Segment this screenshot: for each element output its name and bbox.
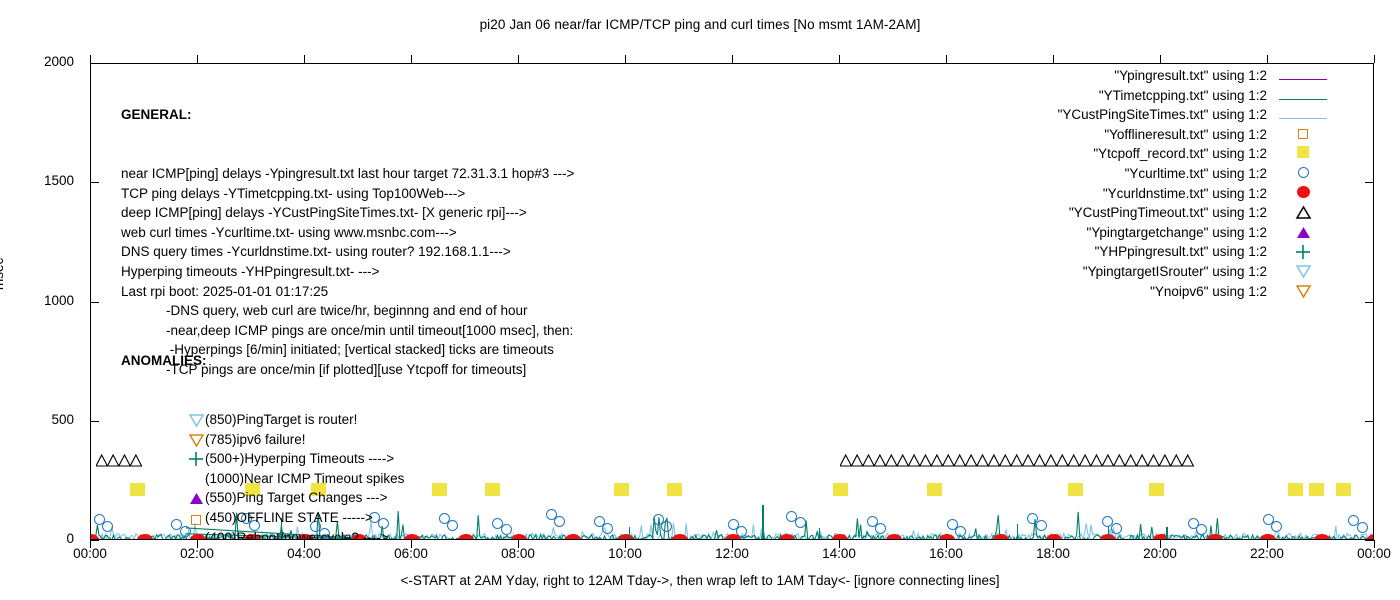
x-tick-mark-top [1160,55,1161,63]
anomaly-label: (850)PingTarget is router! [205,412,357,427]
triangle-up-open-icon [851,455,862,466]
legend-item[interactable]: "Ynoipv6" using 1:2 [1058,282,1331,302]
near-icmp-baseline [91,539,1374,540]
tcp-timeout-marker [1149,483,1164,496]
tcp-timeout-marker [1309,483,1324,496]
x-tick-mark-top [1267,55,1268,63]
curl-time-marker [1271,521,1282,532]
dns-time-marker [565,534,581,540]
circle-open-icon [1298,164,1309,184]
tcp-timeout-marker [667,483,682,496]
legend-item-key [1275,86,1331,106]
legend-item-key [1275,265,1331,278]
anomaly-label: (500+)Hyperping Timeouts ----> [205,451,394,466]
anomaly-row: (850)PingTarget is router! [121,410,404,430]
triangle-down-open-icon [189,434,204,447]
legend-line-icon [1279,86,1327,106]
curl-time-marker [501,524,512,535]
x-tick-mark-top [90,55,91,63]
anomaly-label: (1000)Near ICMP Timeout spikes [205,471,404,486]
legend-line-icon [1279,66,1327,86]
legend-item-label: "Ypingtargetchange" using 1:2 [1087,223,1267,243]
triangle-up-open-icon [1125,455,1136,466]
legend-item[interactable]: "Ypingresult.txt" using 1:2 [1058,66,1331,86]
triangle-up-open-icon [1296,206,1311,219]
triangle-up-open-icon [977,455,988,466]
general-note-line: DNS query times -Ycurldnstime.txt- using… [121,242,574,262]
x-tick-label: 10:00 [608,546,642,561]
tcp-timeout-marker [833,483,848,496]
legend-item-label: "YTimetcpping.txt" using 1:2 [1099,86,1267,106]
legend-item-key [1275,105,1331,125]
hyperping-tick [1017,524,1018,540]
curl-time-marker [955,526,966,537]
legend-item-label: "YCustPingTimeout.txt" using 1:2 [1069,203,1267,223]
x-tick-label: 14:00 [822,546,856,561]
curl-time-marker [447,520,458,531]
square-filled-icon [1297,144,1309,164]
hyperping-tick [1108,526,1109,540]
legend-item-key [1275,206,1331,219]
x-tick-label: 22:00 [1250,546,1284,561]
general-note-line: near ICMP[ping] delays -Ypingresult.txt … [121,164,574,184]
anomaly-row: (785)ipv6 failure! [121,430,404,450]
general-note-line: Last rpi boot: 2025-01-01 01:17:25 [121,282,574,302]
x-tick-label: 00:00 [1357,546,1391,561]
legend-item-label: "Ytcpoff_record.txt" using 1:2 [1093,144,1267,164]
y-tick-label: 2000 [0,54,74,69]
tcp-timeout-marker [432,483,447,496]
legend-item[interactable]: "YpingtargetISrouter" using 1:2 [1058,262,1331,282]
legend-item-key [1275,226,1331,239]
triangle-up-filled-icon [189,492,204,505]
x-tick-mark-top [197,55,198,63]
anomaly-marker [187,489,205,509]
x-tick-label: 18:00 [1036,546,1070,561]
legend-item-key [1275,164,1331,184]
triangle-up-open-icon [1011,455,1022,466]
triangle-up-open-icon [1091,455,1102,466]
triangle-up-open-icon [1068,455,1079,466]
curl-time-marker [1357,522,1368,533]
tcp-timeout-marker [927,483,942,496]
legend: "Ypingresult.txt" using 1:2"YTimetcpping… [1058,66,1331,301]
anomaly-row: (500+)Hyperping Timeouts ----> [121,449,404,469]
anomaly-row: (450)OFFLINE STATE -----> [121,508,404,528]
legend-item-label: "YpingtargetISrouter" using 1:2 [1083,262,1267,282]
x-tick-label: 00:00 [73,546,107,561]
dns-time-marker [672,534,688,540]
tcp-timeout-marker [1336,483,1351,496]
plus-icon [1296,245,1310,259]
legend-line-icon [1279,105,1327,125]
triangle-up-open-icon [988,455,999,466]
legend-item-key [1275,184,1331,204]
general-note-line: web curl times -Ycurltime.txt- using www… [121,223,574,243]
triangle-up-open-icon [1159,455,1170,466]
legend-item[interactable]: "YCustPingSiteTimes.txt" using 1:2 [1058,105,1331,125]
tcp-timeout-marker [1288,483,1303,496]
legend-item-key [1275,66,1331,86]
curl-time-marker [661,521,672,532]
x-tick-label: 06:00 [394,546,428,561]
y-axis-title: msec [0,258,6,290]
anomaly-row: (400)Reboot/powercycle? ----> [121,528,404,540]
hyperping-tick [629,527,630,540]
dns-time-marker [886,534,902,540]
y-tick-label: 1000 [0,293,74,308]
dns-time-marker [779,534,795,540]
x-tick-label: 20:00 [1143,546,1177,561]
x-tick-mark-top [518,55,519,63]
triangle-up-open-icon [1148,455,1159,466]
x-tick-label: 04:00 [287,546,321,561]
triangle-up-open-icon [96,455,107,466]
triangle-up-open-icon [1136,455,1147,466]
legend-item[interactable]: "Ytcpoff_record.txt" using 1:2 [1058,144,1331,164]
plus-icon [189,452,203,466]
curl-time-marker [554,516,565,527]
legend-item-key [1275,125,1331,145]
triangle-up-open-icon [931,455,942,466]
y-tick-mark [1365,540,1374,541]
triangle-up-open-icon [908,455,919,466]
x-tick-mark-top [732,55,733,63]
x-tick-mark-top [304,55,305,63]
anomaly-rows: (850)PingTarget is router!(785)ipv6 fail… [121,410,404,540]
dns-time-marker [458,534,474,540]
x-tick-mark-top [839,55,840,63]
triangle-up-open-icon [863,455,874,466]
anomalies-heading: ANOMALIES: [121,351,404,371]
x-tick-label: 12:00 [715,546,749,561]
curl-time-marker [795,517,806,528]
triangle-up-open-icon [1171,455,1182,466]
circle-filled-icon [1297,184,1310,204]
anomaly-label: (550)Ping Target Changes ---> [205,490,387,505]
triangle-up-open-icon [108,455,119,466]
triangle-up-open-icon [1045,455,1056,466]
hyperping-tick [819,528,820,540]
chart-page: pi20 Jan 06 near/far ICMP/TCP ping and c… [0,0,1400,600]
general-note-line: Hyperping timeouts -YHPpingresult.txt- -… [121,262,574,282]
legend-item[interactable]: "Yofflineresult.txt" using 1:2 [1058,125,1331,145]
legend-item-key [1275,144,1331,164]
legend-item-label: "YHPpingresult.txt" using 1:2 [1095,242,1267,262]
triangle-up-open-icon [874,455,885,466]
triangle-up-open-icon [840,455,851,466]
legend-item-label: "Ynoipv6" using 1:2 [1150,282,1267,302]
x-tick-label: 16:00 [929,546,963,561]
square-open-icon [1298,125,1308,145]
general-heading: GENERAL: [121,105,574,125]
anomaly-marker [187,450,205,470]
dns-time-marker [1314,534,1330,540]
plot-area: GENERAL: near ICMP[ping] delays -Ypingre… [90,63,1374,540]
legend-item-label: "Ycurltime.txt" using 1:2 [1125,164,1267,184]
triangle-down-open-icon [189,414,204,427]
legend-item[interactable]: "Ypingtargetchange" using 1:2 [1058,223,1331,243]
tcp-timeout-marker [1068,483,1083,496]
y-tick-mark [90,540,99,541]
curl-time-marker [1111,523,1122,534]
anomaly-label: (785)ipv6 failure! [205,432,306,447]
triangle-up-open-icon [954,455,965,466]
x-tick-label: 08:00 [501,546,535,561]
triangle-up-open-icon [1102,455,1113,466]
x-tick-mark-top [1374,55,1375,63]
anomaly-row: (550)Ping Target Changes ---> [121,488,404,508]
curl-time-marker [102,521,113,532]
legend-item-key [1275,285,1331,298]
dns-time-marker [1207,534,1223,540]
y-tick-label: 1500 [0,173,74,188]
triangle-up-open-icon [897,455,908,466]
triangle-up-open-icon [1182,455,1193,466]
legend-item[interactable]: "Ycurltime.txt" using 1:2 [1058,164,1331,184]
curl-time-marker [1036,520,1047,531]
legend-item[interactable]: "YCustPingTimeout.txt" using 1:2 [1058,203,1331,223]
triangle-up-open-icon [920,455,931,466]
anomaly-row: (1000)Near ICMP Timeout spikes [121,469,404,489]
tcp-timeout-marker [614,483,629,496]
legend-item-label: "Yofflineresult.txt" using 1:2 [1104,125,1267,145]
anomaly-label: (450)OFFLINE STATE -----> [205,510,373,525]
legend-item[interactable]: "YHPpingresult.txt" using 1:2 [1058,242,1331,262]
anomalies-block: ANOMALIES: (850)PingTarget is router!(78… [121,312,404,540]
general-note-line: deep ICMP[ping] delays -YCustPingSiteTim… [121,203,574,223]
triangle-up-open-icon [1034,455,1045,466]
deep-icmp-timeout-run [840,453,1197,469]
legend-item-label: "Ypingresult.txt" using 1:2 [1114,66,1267,86]
triangle-up-open-icon [1000,455,1011,466]
x-tick-mark-top [1053,55,1054,63]
chart-title: pi20 Jan 06 near/far ICMP/TCP ping and c… [0,17,1400,32]
triangle-up-open-icon [1022,455,1033,466]
triangle-up-open-icon [1057,455,1068,466]
y-tick-label: 0 [0,531,74,546]
legend-item[interactable]: "YTimetcpping.txt" using 1:2 [1058,86,1331,106]
x-tick-mark-top [411,55,412,63]
legend-item-key [1275,245,1331,259]
triangle-up-open-icon [886,455,897,466]
legend-item-label: "Ycurldnstime.txt" using 1:2 [1103,184,1267,204]
triangle-down-open-icon [1296,285,1311,298]
dns-time-marker [993,534,1009,540]
tcp-timeout-marker [485,483,500,496]
legend-item-label: "YCustPingSiteTimes.txt" using 1:2 [1058,105,1267,125]
triangle-down-open-icon [1296,265,1311,278]
triangle-up-filled-icon [1296,226,1311,239]
triangle-up-open-icon [943,455,954,466]
general-note-line: TCP ping delays -YTimetcpping.txt- using… [121,184,574,204]
triangle-up-open-icon [965,455,976,466]
anomaly-marker [187,431,205,451]
y-tick-label: 500 [0,412,74,427]
anomaly-marker [187,411,205,431]
x-axis-title: <-START at 2AM Yday, right to 12AM Tday-… [0,573,1400,588]
triangle-up-open-icon [1079,455,1090,466]
triangle-up-open-icon [1114,455,1125,466]
hyperping-tick [1166,527,1167,540]
x-tick-mark-top [625,55,626,63]
x-tick-mark-top [946,55,947,63]
hyperping-tick [762,505,763,540]
legend-item[interactable]: "Ycurldnstime.txt" using 1:2 [1058,184,1331,204]
x-tick-label: 02:00 [180,546,214,561]
anomaly-label: (400)Reboot/powercycle? ----> [205,530,388,540]
